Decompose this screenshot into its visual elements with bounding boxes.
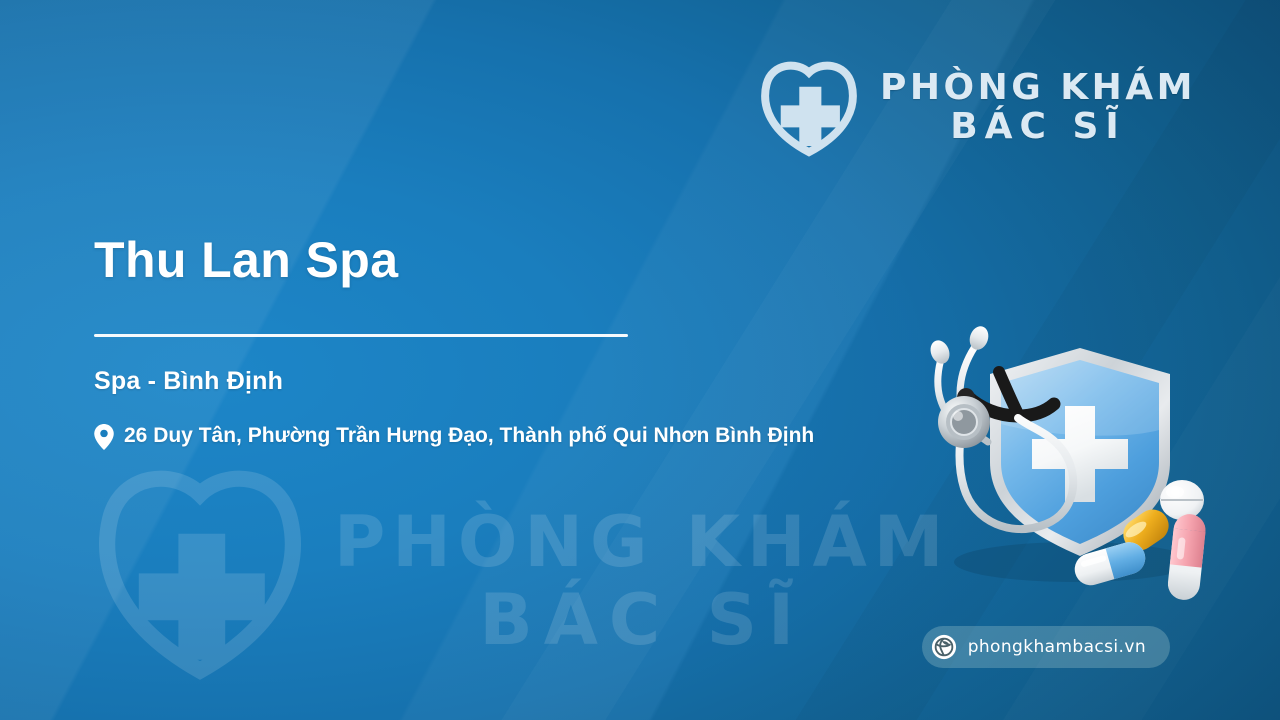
category-subtitle: Spa - Bình Định bbox=[94, 367, 854, 396]
promo-card: PHÒNG KHÁM BÁC SĨ PHÒNG KHÁM BÁC SĨ Thu … bbox=[0, 0, 1280, 720]
website-url: phongkhambacsi.vn bbox=[968, 637, 1146, 657]
watermark-line-1: PHÒNG KHÁM bbox=[334, 503, 950, 581]
title-divider bbox=[94, 334, 628, 337]
brand-line-1: PHÒNG KHÁM bbox=[880, 69, 1196, 108]
globe-icon bbox=[931, 634, 957, 660]
white-round-tablet bbox=[1160, 480, 1204, 520]
watermark-line-2: BÁC SĨ bbox=[479, 581, 805, 659]
address-row: 26 Duy Tân, Phường Trần Hưng Đạo, Thành … bbox=[94, 421, 854, 451]
stethoscope-shield-pills-illustration bbox=[894, 312, 1224, 612]
brand-line-2: BÁC SĨ bbox=[950, 108, 1126, 147]
page-title: Thu Lan Spa bbox=[94, 232, 854, 288]
website-badge[interactable]: phongkhambacsi.vn bbox=[922, 626, 1170, 668]
watermark: PHÒNG KHÁM BÁC SĨ bbox=[92, 452, 832, 702]
address-text: 26 Duy Tân, Phường Trần Hưng Đạo, Thành … bbox=[124, 421, 814, 451]
location-pin-icon bbox=[94, 424, 114, 450]
content-block: Thu Lan Spa Spa - Bình Định 26 Duy Tân, … bbox=[94, 232, 854, 451]
pink-white-capsule bbox=[1166, 513, 1207, 602]
ear-tip bbox=[927, 338, 953, 367]
medical-cross-heart-icon bbox=[92, 469, 308, 685]
medical-cross-heart-icon bbox=[756, 58, 862, 158]
brand-logo: PHÒNG KHÁM BÁC SĨ bbox=[756, 58, 1196, 158]
